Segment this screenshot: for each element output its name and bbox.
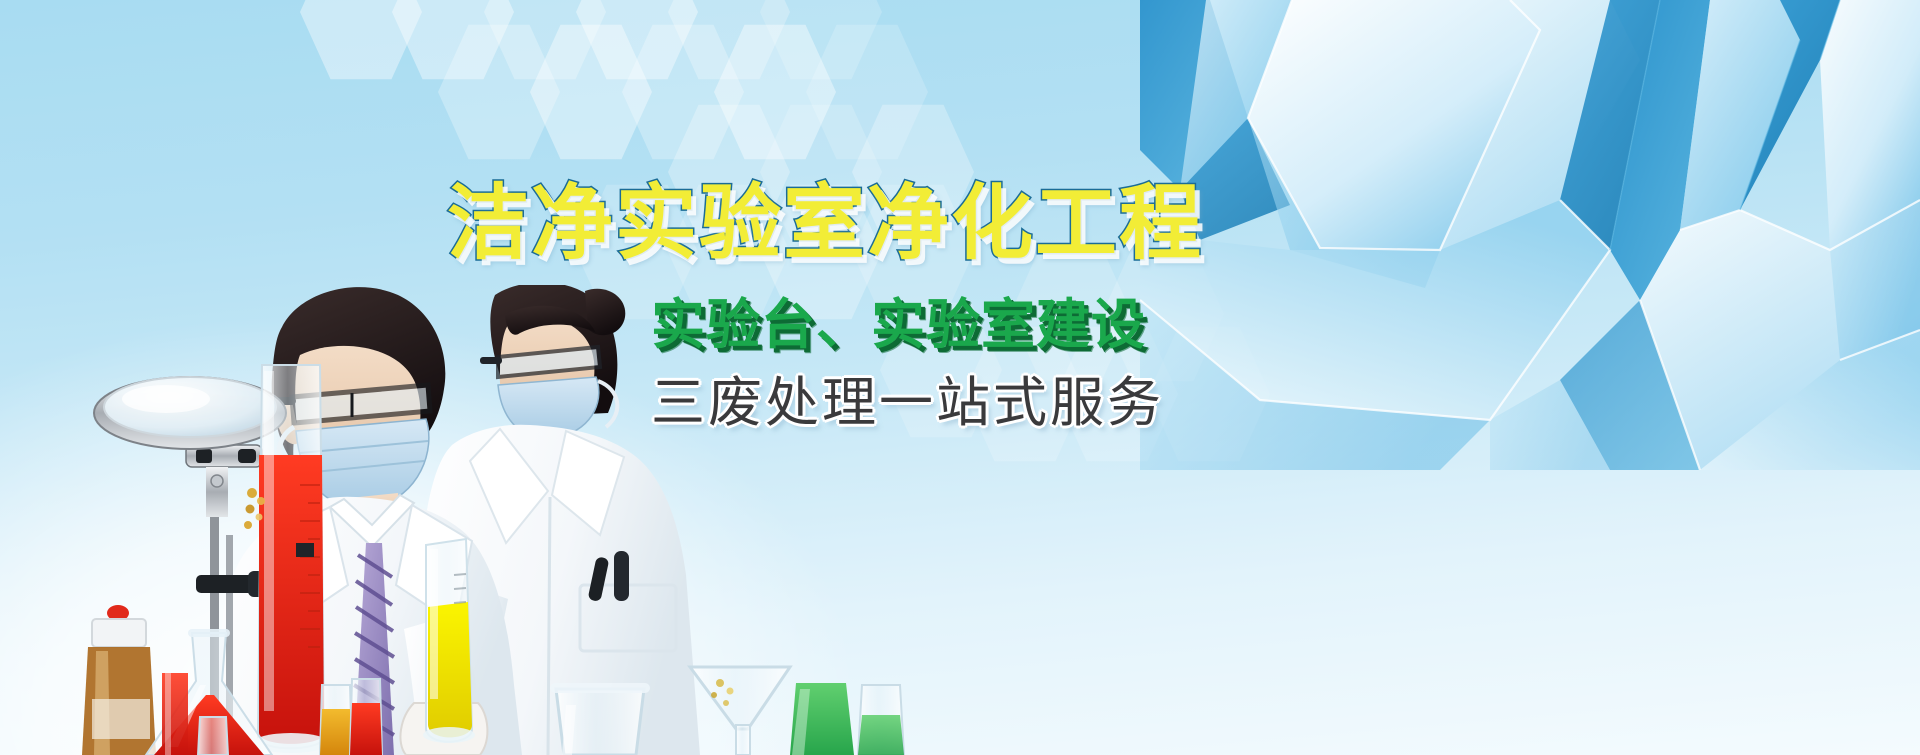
flask-neck-rim bbox=[188, 629, 230, 637]
hexagon-shape bbox=[760, 102, 882, 242]
beaker-clear bbox=[550, 683, 650, 755]
list-item bbox=[350, 679, 382, 755]
laboratory-scene bbox=[0, 285, 920, 755]
slim-cylinder-red bbox=[162, 673, 188, 755]
magnifier-lens bbox=[94, 377, 286, 449]
hexagon-shape bbox=[576, 0, 698, 82]
bottle-cap bbox=[92, 619, 146, 647]
separatory-funnel-green bbox=[690, 667, 854, 755]
hexagon-shape bbox=[852, 102, 974, 242]
list-item bbox=[198, 717, 228, 755]
crystal-polygon-art bbox=[1140, 0, 1920, 470]
graduated-tube-clear bbox=[858, 685, 904, 755]
cylinder-clip bbox=[296, 543, 314, 557]
graduated-cylinder-red bbox=[253, 365, 329, 753]
list-item bbox=[320, 685, 352, 755]
hexagon-shape bbox=[714, 22, 836, 162]
hexagon-shape bbox=[484, 0, 606, 82]
banner-root: 洁净实验室净化工程 实验台、实验室建设 三废处理一站式服务 bbox=[0, 0, 1920, 755]
hexagon-shape bbox=[1010, 244, 1132, 384]
hexagon-shape bbox=[300, 0, 422, 82]
hexagon-shape bbox=[806, 22, 928, 162]
goggle-strap bbox=[480, 357, 502, 364]
test-tube-yellow bbox=[423, 539, 475, 743]
headline-line-1: 洁净实验室净化工程 bbox=[447, 183, 1203, 265]
hexagon-shape bbox=[438, 22, 560, 162]
hexagon-shape bbox=[392, 0, 514, 82]
hexagon-shape bbox=[964, 324, 1086, 464]
hexagon-shape bbox=[668, 0, 790, 82]
hexagon-shape bbox=[668, 102, 790, 242]
coat-center-seam bbox=[548, 497, 550, 755]
hexagon-shape bbox=[622, 22, 744, 162]
hexagon-shape bbox=[760, 0, 882, 82]
reagent-bottle-amber bbox=[82, 605, 156, 755]
funnel-stem bbox=[736, 725, 750, 755]
hexagon-shape bbox=[530, 22, 652, 162]
bottle-label bbox=[92, 699, 150, 739]
funnel-cone bbox=[690, 667, 790, 729]
